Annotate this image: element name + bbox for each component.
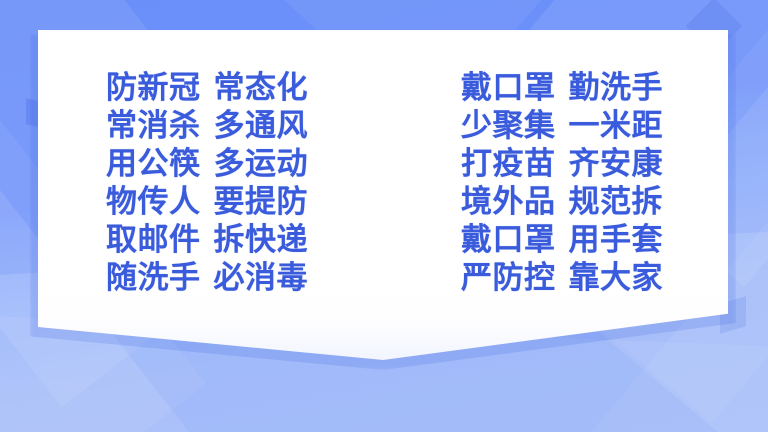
slogan-cell-right: 境外品 规范拆 <box>373 187 728 218</box>
slogan-phrase: 勤洗手 <box>569 73 664 104</box>
slogan-phrase: 常态化 <box>214 73 309 104</box>
slogan-row: 随洗手 必消毒 严防控 靠大家 <box>38 259 728 297</box>
slogan-phrase: 常消杀 <box>106 111 201 142</box>
slogan-phrase: 用手套 <box>569 225 664 256</box>
slogan-phrase: 多通风 <box>214 111 309 142</box>
slogan-phrase: 戴口罩 <box>461 73 556 104</box>
slogan-phrase: 用公筷 <box>106 149 201 180</box>
slogan-phrase: 必消毒 <box>214 263 309 294</box>
slogan-cell-right: 戴口罩 勤洗手 <box>373 73 728 104</box>
slogan-phrase: 境外品 <box>461 187 556 218</box>
slogan-phrase: 戴口罩 <box>461 225 556 256</box>
slogan-cell-right: 打疫苗 齐安康 <box>373 149 728 180</box>
slogan-phrase: 靠大家 <box>569 263 664 294</box>
slogan-row: 用公筷 多运动 打疫苗 齐安康 <box>38 145 728 183</box>
slogan-phrase: 规范拆 <box>569 187 664 218</box>
slogan-phrase: 防新冠 <box>106 73 201 104</box>
slogan-phrase: 齐安康 <box>569 149 664 180</box>
slogan-cell-right: 严防控 靠大家 <box>373 263 728 294</box>
slogan-phrase: 物传人 <box>106 187 201 218</box>
slogan-phrase: 要提防 <box>214 187 309 218</box>
slogan-phrase: 多运动 <box>214 149 309 180</box>
slogan-row: 取邮件 拆快递 戴口罩 用手套 <box>38 221 728 259</box>
slogan-cell-left: 常消杀 多通风 <box>38 111 373 142</box>
slogan-phrase: 打疫苗 <box>461 149 556 180</box>
slogan-cell-right: 少聚集 一米距 <box>373 111 728 142</box>
slogan-cell-left: 取邮件 拆快递 <box>38 225 373 256</box>
slogan-row: 常消杀 多通风 少聚集 一米距 <box>38 107 728 145</box>
slogan-phrase: 随洗手 <box>106 263 201 294</box>
poster-canvas: 防新冠 常态化 戴口罩 勤洗手 常消杀 多通风 少聚集 一米距 用公筷 多运动 <box>0 0 768 432</box>
slogan-phrase: 少聚集 <box>461 111 556 142</box>
slogan-phrase: 取邮件 <box>106 225 201 256</box>
slogan-cell-left: 防新冠 常态化 <box>38 73 373 104</box>
slogan-grid: 防新冠 常态化 戴口罩 勤洗手 常消杀 多通风 少聚集 一米距 用公筷 多运动 <box>38 30 728 330</box>
slogan-cell-left: 物传人 要提防 <box>38 187 373 218</box>
slogan-cell-left: 用公筷 多运动 <box>38 149 373 180</box>
slogan-phrase: 拆快递 <box>214 225 309 256</box>
slogan-phrase: 严防控 <box>461 263 556 294</box>
slogan-cell-left: 随洗手 必消毒 <box>38 263 373 294</box>
slogan-row: 物传人 要提防 境外品 规范拆 <box>38 183 728 221</box>
slogan-row: 防新冠 常态化 戴口罩 勤洗手 <box>38 69 728 107</box>
slogan-phrase: 一米距 <box>569 111 664 142</box>
slogan-cell-right: 戴口罩 用手套 <box>373 225 728 256</box>
